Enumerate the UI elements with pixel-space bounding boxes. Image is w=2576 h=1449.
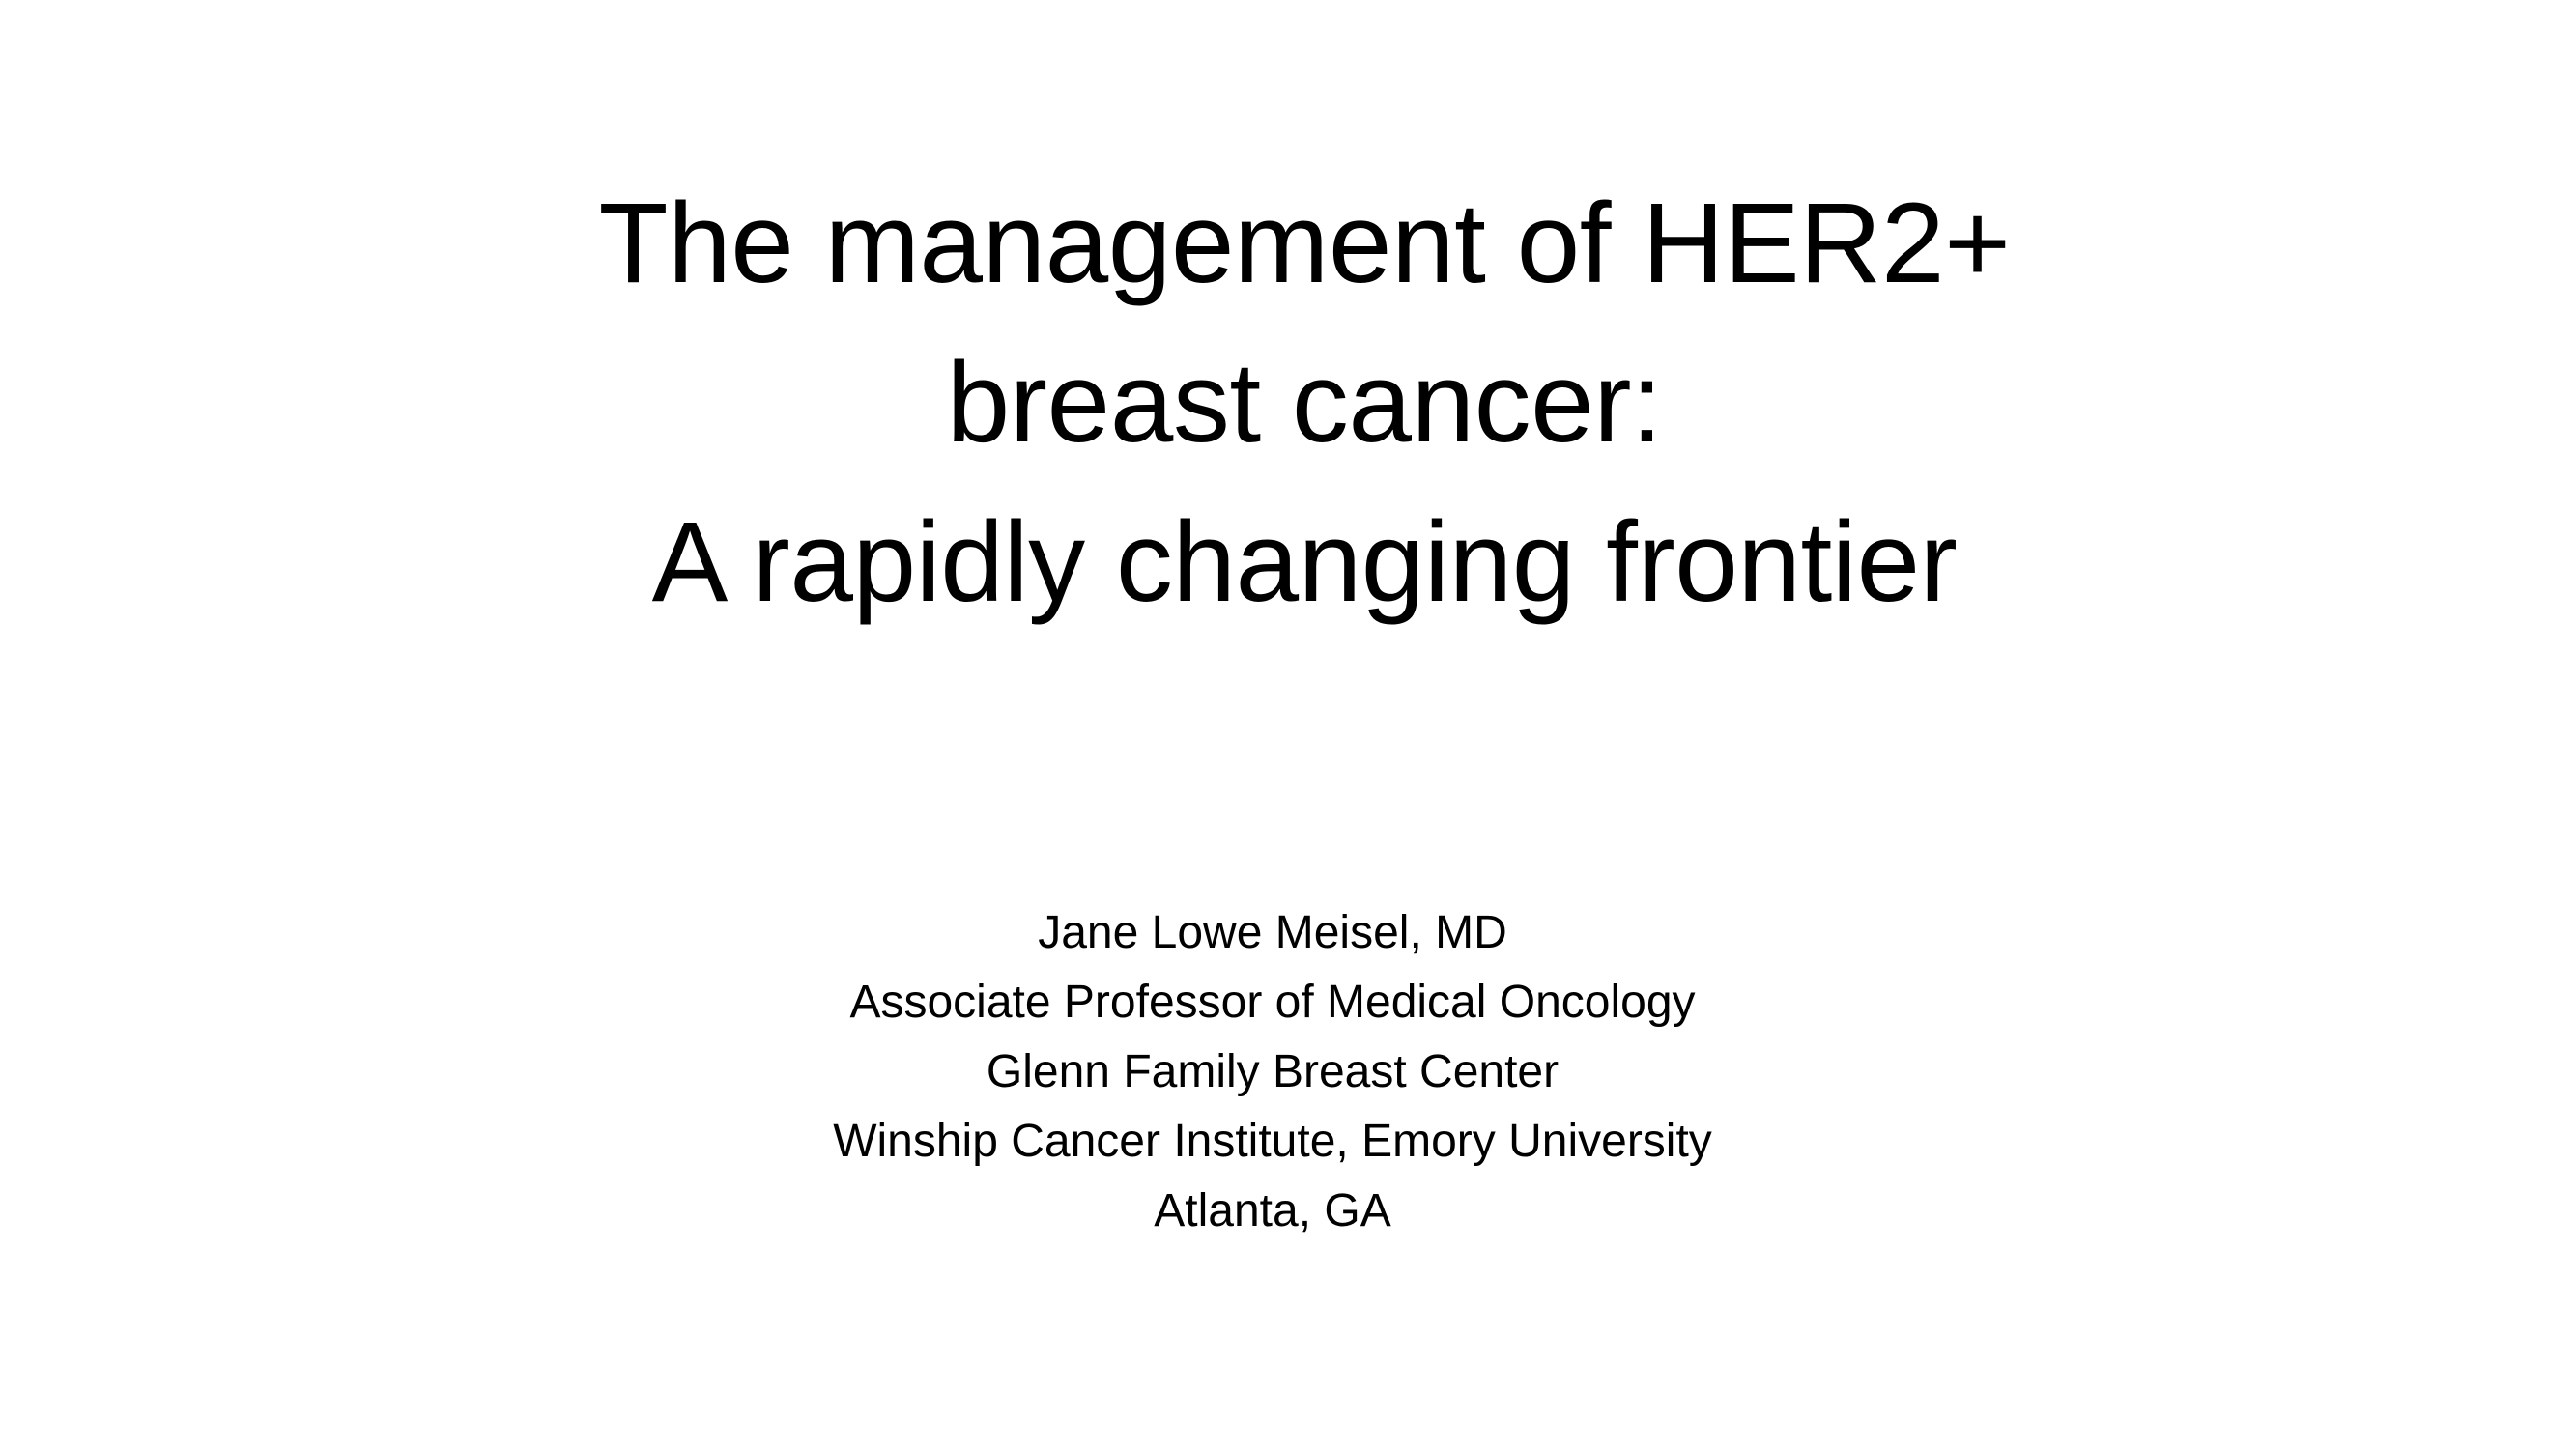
presenter-location: Atlanta, GA	[290, 1177, 2255, 1246]
title-line-3: A rapidly changing frontier	[322, 483, 2287, 642]
presenter-center: Glenn Family Breast Center	[290, 1037, 2255, 1107]
presenter-name: Jane Lowe Meisel, MD	[290, 898, 2255, 968]
title-line-2: breast cancer:	[322, 324, 2287, 483]
presenter-institution: Winship Cancer Institute, Emory Universi…	[290, 1107, 2255, 1177]
presenter-title: Associate Professor of Medical Oncology	[290, 968, 2255, 1037]
slide-subtitle: Jane Lowe Meisel, MD Associate Professor…	[290, 898, 2255, 1246]
slide-title: The management of HER2+ breast cancer: A…	[322, 164, 2287, 642]
title-line-1: The management of HER2+	[322, 164, 2287, 324]
title-slide: The management of HER2+ breast cancer: A…	[0, 0, 2576, 1449]
